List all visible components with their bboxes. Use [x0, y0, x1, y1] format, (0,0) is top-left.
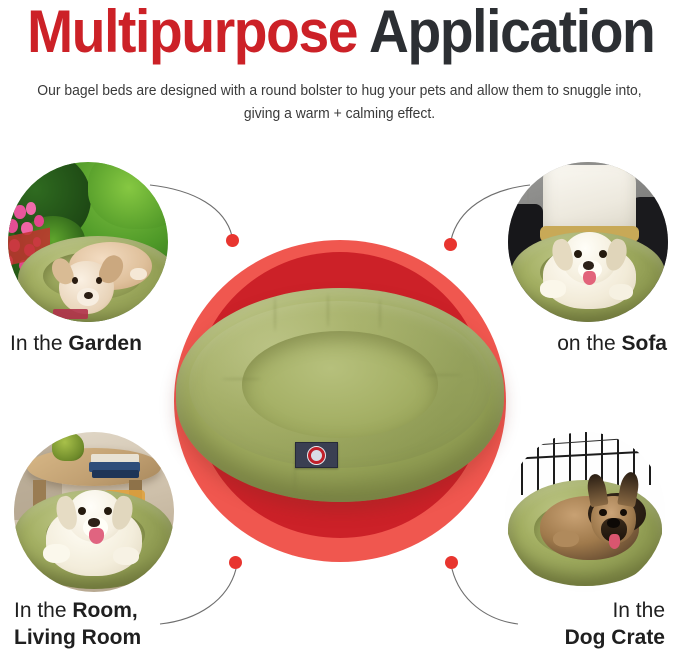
caption-dog-crate: In the Dog Crate	[565, 597, 665, 651]
caption-sofa-bold: Sofa	[621, 332, 667, 355]
caption-garden-bold: Garden	[68, 332, 142, 355]
page-title: Multipurpose Application	[27, 0, 652, 68]
bed-cavity	[242, 331, 439, 438]
page-title-red-word: Multipurpose	[27, 0, 357, 65]
bed-fold	[425, 374, 461, 376]
caption-sofa: on the Sofa	[557, 330, 667, 357]
caption-living-room: In the Room, Living Room	[14, 597, 141, 651]
photo-dog-bed-in-living-room	[14, 432, 174, 592]
caption-living-room-line2: Living Room	[14, 624, 141, 651]
caption-garden-regular: In the	[10, 332, 68, 355]
caption-living-room-bold: Room,	[72, 599, 137, 622]
caption-dog-crate-line1: In the	[565, 597, 665, 624]
caption-dog-crate-regular: In the	[612, 599, 665, 622]
caption-dog-crate-line2: Dog Crate	[565, 624, 665, 651]
infographic-page: Multipurpose Application Our bagel beds …	[0, 0, 679, 666]
page-subtitle: Our bagel beds are designed with a round…	[31, 80, 648, 126]
bed-fold	[327, 294, 329, 326]
caption-sofa-regular: on the	[557, 332, 621, 355]
brand-badge-icon	[307, 446, 326, 465]
caption-living-room-bold2: Living Room	[14, 626, 141, 649]
bagel-pet-bed	[176, 288, 504, 502]
photo-dog-bed-in-garden	[8, 162, 168, 322]
center-product-stage	[170, 230, 510, 570]
caption-living-room-regular: In the	[14, 599, 72, 622]
photo-dog-bed-in-dog-crate	[505, 432, 665, 592]
page-title-dark-word: Application	[369, 0, 654, 65]
bed-fold	[222, 378, 261, 380]
caption-garden: In the Garden	[10, 330, 142, 357]
majestic-pet-logo-tag	[295, 442, 338, 468]
caption-dog-crate-bold2: Dog Crate	[565, 626, 665, 649]
caption-living-room-line1: In the Room,	[14, 597, 141, 624]
photo-dog-bed-on-sofa	[508, 162, 668, 322]
